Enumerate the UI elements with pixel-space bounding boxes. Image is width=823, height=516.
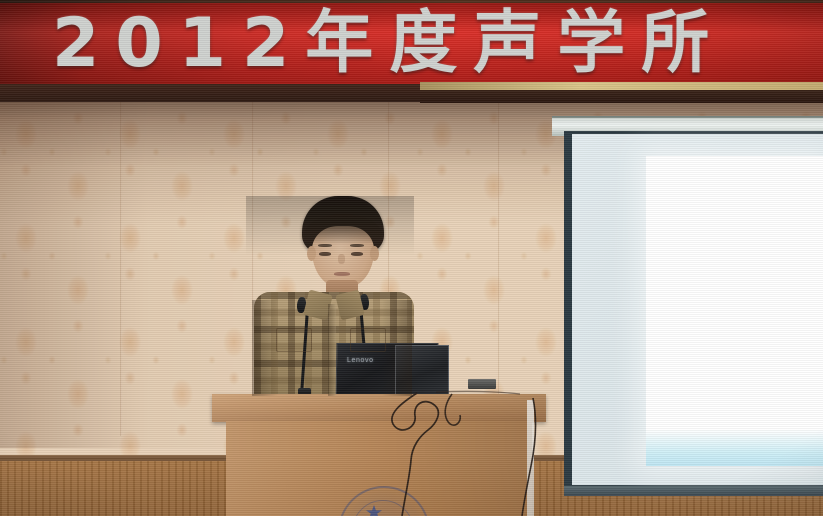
shirt-button-placket [328,304,336,396]
lectern-right-edge-highlight [527,400,534,516]
wallpaper-seam [120,96,122,436]
presenter-ear-left [307,246,316,261]
presenter-eye-right [351,252,363,256]
laptop-brand-label: Lenovo [347,357,374,364]
banner-lower-shadow-right [420,90,823,103]
desk-gadget [468,379,496,389]
wallpaper-seam [498,96,500,436]
projection-screen-bottom-bar [564,486,823,496]
banner-lower-shadow-left [0,84,430,102]
presenter-eyebrow-left [318,244,332,247]
event-banner: 2012年度声学所 [0,3,823,86]
presenter-eyebrow-right [350,244,364,247]
banner-title-text: 2012年度声学所 [52,3,725,86]
presenter-eye-left [319,252,331,256]
presenter-mouth [334,272,350,276]
photo-scene: 2012年度声学所 Lenovo [0,0,823,516]
presenter-arm-shadow-left [252,300,278,396]
presenter [246,196,414,396]
presenter-nose [338,254,345,264]
projected-image-area [646,156,823,466]
presenter-ear-right [370,246,379,261]
shirt-pocket-left [276,328,312,352]
lectern-top-surface [212,394,546,422]
presenter-arm-shadow-right [382,300,412,396]
shirt-pocket-right [350,328,386,352]
